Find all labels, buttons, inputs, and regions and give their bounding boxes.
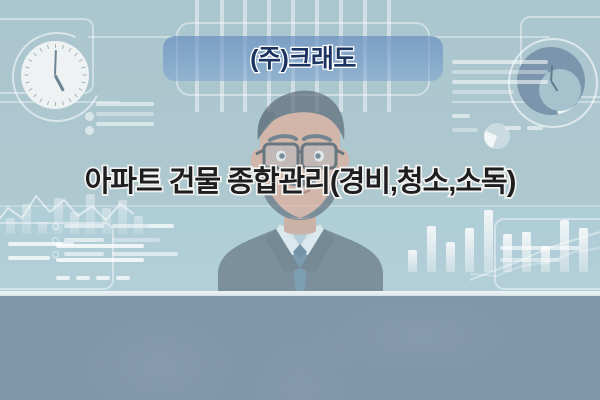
- bar: [102, 208, 111, 234]
- bar: [408, 250, 417, 272]
- background-dot: [85, 126, 94, 135]
- donut-minute-hand: [550, 65, 553, 81]
- data-row-line: [56, 258, 144, 262]
- bar: [427, 226, 436, 272]
- data-row-line: [96, 276, 110, 280]
- data-row-line: [96, 102, 154, 106]
- data-row-line: [8, 242, 62, 246]
- background-rule: [88, 36, 173, 38]
- page-title: 아파트 건물 종합관리(경비,청소,소독): [0, 158, 600, 200]
- data-row-line: [452, 128, 478, 132]
- bar: [86, 194, 95, 234]
- bar: [134, 216, 143, 234]
- analog-clock-graphic: [12, 32, 98, 118]
- data-row-line: [64, 252, 104, 256]
- data-row-line: [116, 276, 130, 280]
- data-row-line: [96, 112, 154, 116]
- data-row-line: [452, 80, 548, 84]
- data-row-line: [8, 256, 50, 260]
- bar: [446, 242, 455, 272]
- data-row-line: [452, 60, 548, 64]
- thumbnail-canvas: (주)크래도 아파트 건물 종합관리(경비,청소,소독): [0, 0, 600, 400]
- rising-line-graphic: [470, 226, 600, 284]
- data-row-line: [56, 276, 70, 280]
- data-row-line: [452, 90, 514, 94]
- data-row-line: [452, 70, 548, 74]
- bar: [22, 204, 31, 234]
- bar: [38, 222, 47, 234]
- bottom-color-band: [0, 296, 600, 400]
- bar: [6, 218, 15, 234]
- data-row-line: [500, 258, 560, 262]
- data-row-line: [452, 114, 470, 118]
- data-row-line: [500, 246, 580, 250]
- donut-hour-hand: [550, 80, 558, 91]
- data-row-line: [56, 244, 144, 248]
- company-name-label: (주)크래도: [163, 38, 443, 80]
- data-row-line: [112, 252, 178, 256]
- bar: [70, 212, 79, 234]
- bar: [118, 200, 127, 234]
- background-dot: [85, 112, 94, 121]
- data-row-line: [527, 126, 543, 130]
- data-row-line: [505, 126, 521, 130]
- data-row-bullet: [52, 251, 59, 258]
- data-row-line: [76, 276, 90, 280]
- bar: [54, 198, 63, 234]
- data-row-line: [96, 122, 154, 126]
